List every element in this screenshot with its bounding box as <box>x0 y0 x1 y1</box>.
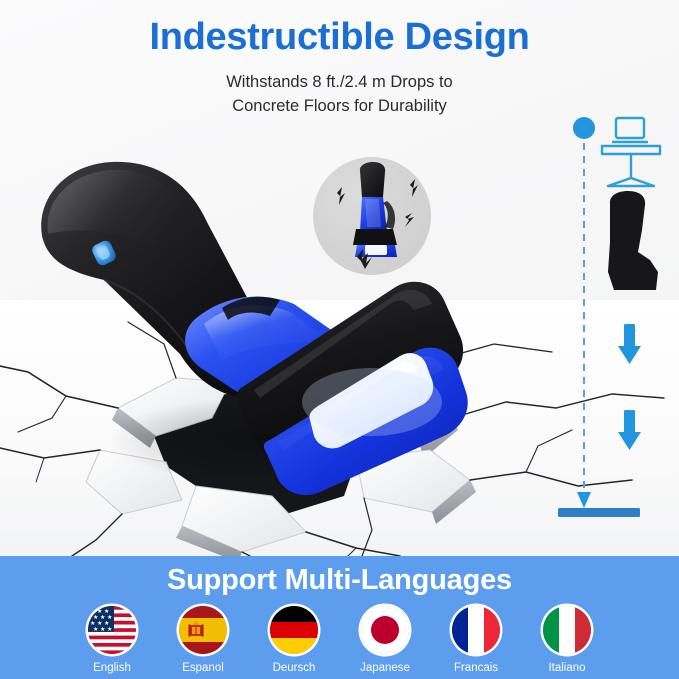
flag-item-italiano[interactable]: Italiano <box>533 606 601 674</box>
product-feature-graphic: Indestructible Design Withstands 8 ft./2… <box>0 0 679 679</box>
flag-item-deursch[interactable]: Deursch <box>260 606 328 674</box>
flag-jp-icon <box>361 606 409 654</box>
banner-title: Support Multi-Languages <box>0 564 679 597</box>
svg-text:★: ★ <box>93 626 98 633</box>
flag-item-english[interactable]: ★★★ ★★★ ★★★ ★★★ English <box>78 606 146 674</box>
flag-fr-icon <box>452 606 500 654</box>
svg-text:★: ★ <box>100 626 105 633</box>
flag-item-japanese[interactable]: Japanese <box>351 606 419 674</box>
page-title: Indestructible Design <box>0 16 679 59</box>
flag-de-icon <box>270 606 318 654</box>
drop-arrow-1 <box>618 324 641 364</box>
impact-detail-closeup <box>313 157 431 275</box>
flag-us-icon: ★★★ ★★★ ★★★ ★★★ <box>88 606 136 654</box>
drop-start-dot <box>573 117 595 139</box>
svg-text:★: ★ <box>107 626 112 633</box>
flag-label: Italiano <box>548 662 585 674</box>
scanner-silhouette-icon <box>608 191 658 290</box>
page-subtitle-line-1: Withstands 8 ft./2.4 m Drops to <box>0 70 679 94</box>
drop-arrow-2 <box>618 410 641 450</box>
inset-scanner <box>353 162 397 257</box>
multi-language-banner: Support Multi-Languages <box>0 556 679 679</box>
window-glow <box>302 368 442 436</box>
flag-item-espanol[interactable]: Espanol <box>169 606 237 674</box>
flag-label: Japanese <box>360 662 410 674</box>
flag-label: English <box>93 662 131 674</box>
flag-list: ★★★ ★★★ ★★★ ★★★ English <box>0 606 679 674</box>
flag-label: Deursch <box>273 662 316 674</box>
flag-it-icon <box>543 606 591 654</box>
drop-path-arrowhead <box>577 492 591 508</box>
desk-with-laptop-icon <box>602 118 660 186</box>
ground-bar <box>558 508 640 517</box>
flag-label: Francais <box>454 662 498 674</box>
flag-label: Espanol <box>182 662 224 674</box>
flag-es-icon <box>179 606 227 654</box>
flag-item-francais[interactable]: Francais <box>442 606 510 674</box>
drop-height-diagram <box>552 112 672 524</box>
page-subtitle: Withstands 8 ft./2.4 m Drops to Concrete… <box>0 70 679 118</box>
